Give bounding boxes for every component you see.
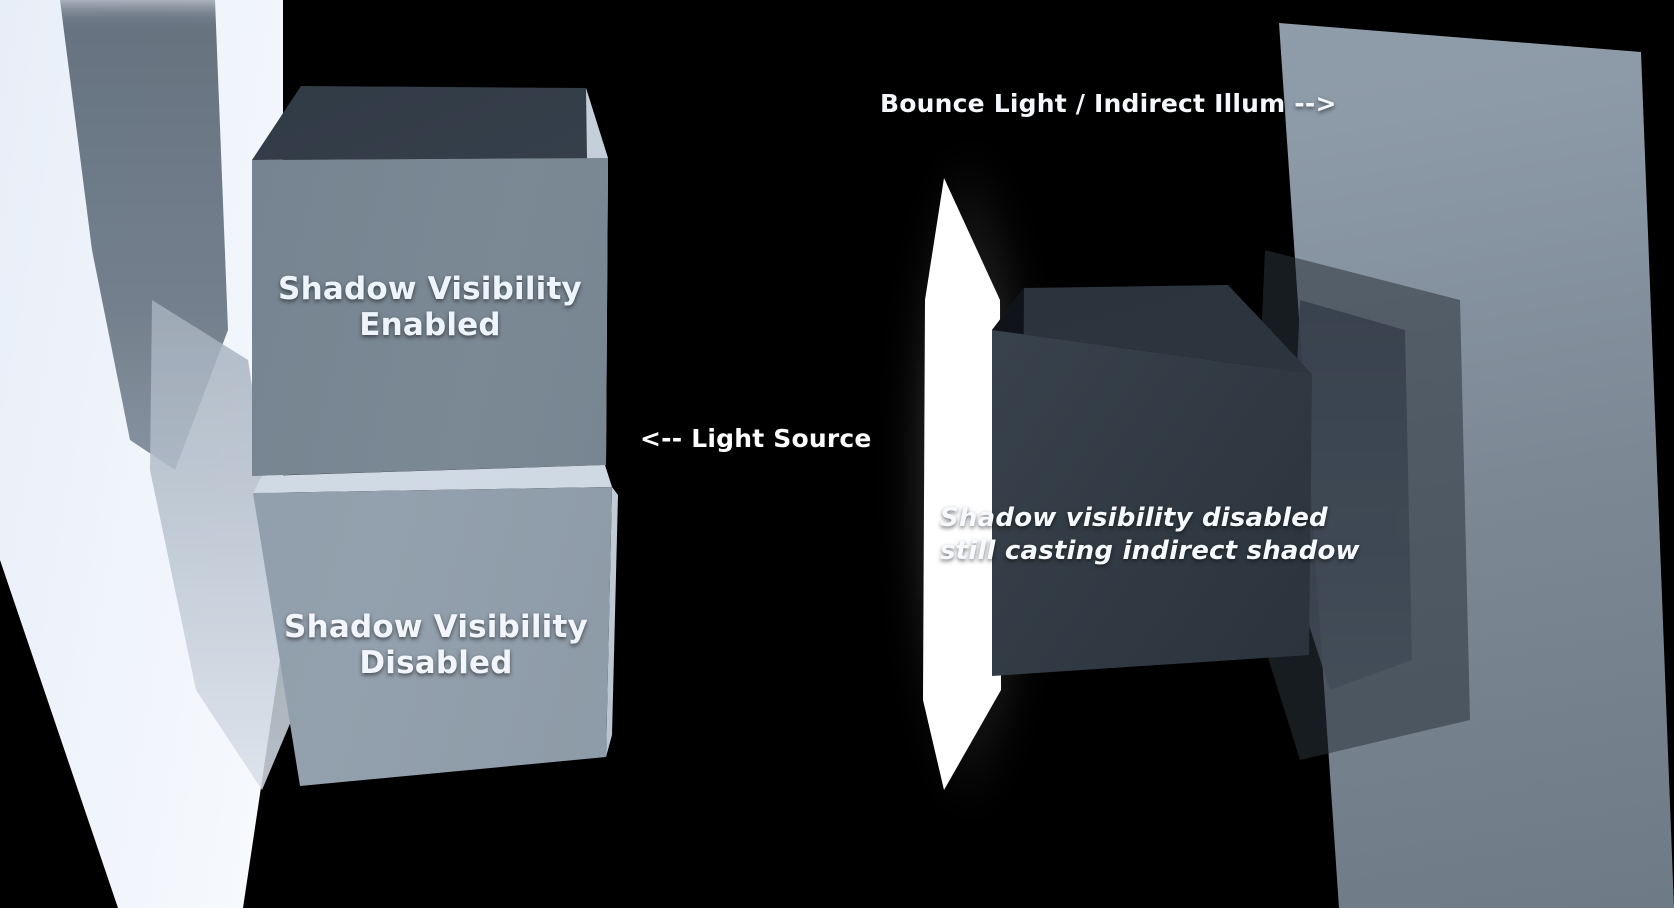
label-shadow-visibility-enabled: Shadow Visibility Enabled [252, 272, 608, 343]
label-bounce-light: Bounce Light / Indirect Illum --> [880, 90, 1330, 119]
render-viewport: Shadow Visibility Enabled Shadow Visibil… [0, 0, 1674, 908]
label-light-source: <-- Light Source [640, 425, 870, 454]
label-indirect-shadow-note: Shadow visibility disabled still casting… [940, 502, 1350, 569]
label-shadow-visibility-disabled: Shadow Visibility Disabled [258, 610, 614, 681]
